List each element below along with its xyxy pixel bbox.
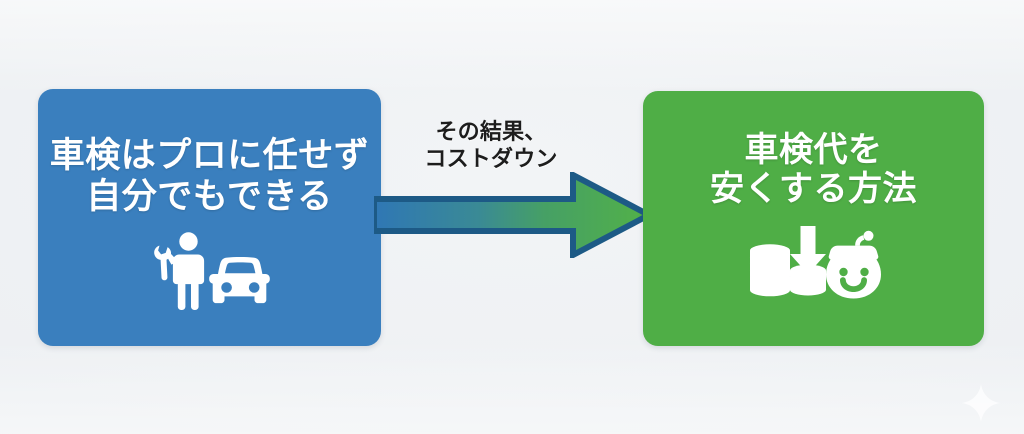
sparkle-icon [961,383,1001,423]
right-arrow-icon [374,172,654,258]
connector-caption: その結果、 コストダウン [398,118,584,173]
slide-canvas: 車検はプロに任せず 自分でもできる [0,0,1024,434]
mechanic-with-wrench-and-car-icon [148,231,272,316]
left-card-title: 車検はプロに任せず 自分でもできる [50,136,370,217]
left-concept-card[interactable]: 車検はプロに任せず 自分でもできる [38,89,381,346]
right-card-title: 車検代を 安くする方法 [710,131,917,210]
right-concept-card[interactable]: 車検代を 安くする方法 [643,91,984,346]
coins-down-into-wallet-icon [744,226,884,305]
